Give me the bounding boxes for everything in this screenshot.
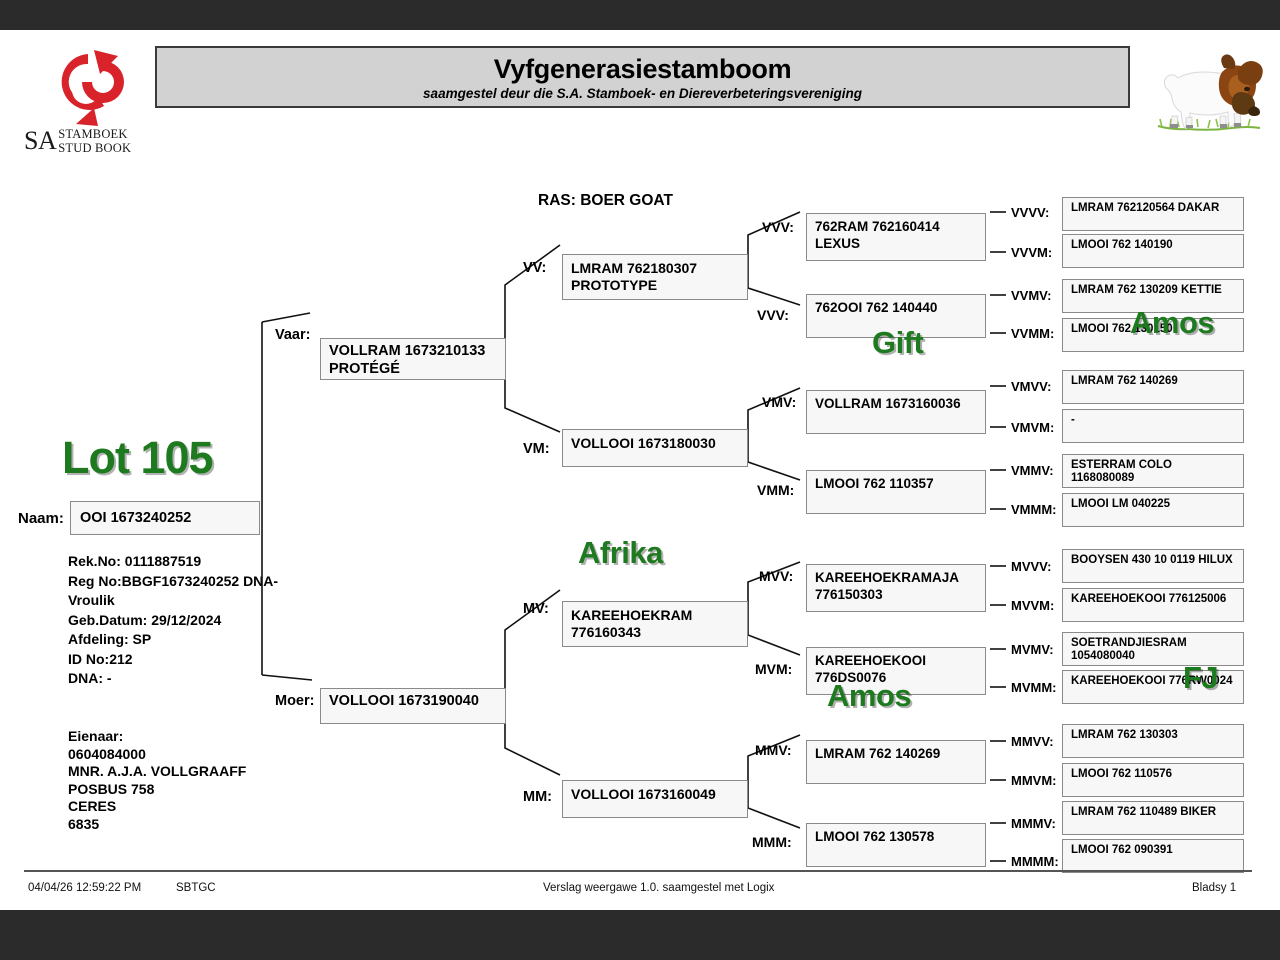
- node-mmvm[interactable]: LMOOI 762 110576: [1062, 763, 1244, 797]
- boer-goat-photo: [1148, 48, 1270, 152]
- node-vv-text: LMRAM 762180307 PROTOTYPE: [563, 255, 747, 294]
- label-mvm: MVM:: [755, 661, 792, 677]
- node-mmmm-text: LMOOI 762 090391: [1063, 840, 1243, 857]
- node-vvm-text: 762OOI 762 140440: [807, 295, 985, 317]
- node-vvvm-text: LMOOI 762 140190: [1063, 235, 1243, 252]
- label-mvv: MVV:: [759, 568, 793, 584]
- page-subtitle: saamgestel deur die S.A. Stamboek- en Di…: [157, 86, 1128, 102]
- node-mvvv-text: BOOYSEN 430 10 0119 HILUX: [1063, 550, 1243, 567]
- node-mvmv-text: SOETRANDJIESRAM 1054080040: [1063, 633, 1243, 663]
- logo-sa-text: SA: [24, 126, 56, 156]
- node-mmvv[interactable]: LMRAM 762 130303: [1062, 724, 1244, 758]
- label-mmmm: MMMM:: [1011, 854, 1059, 869]
- watermark-afrika: Afrika: [578, 535, 663, 571]
- node-vm-text: VOLLOOI 1673180030: [563, 430, 747, 452]
- node-vmvm[interactable]: -: [1062, 409, 1244, 443]
- report-sheet: SASTAMBOEKSTUD BOOK Vyfgenerasiestamboom…: [0, 30, 1280, 910]
- node-mmvv-text: LMRAM 762 130303: [1063, 725, 1243, 742]
- node-mm[interactable]: VOLLOOI 1673160049: [562, 780, 748, 818]
- node-vmv-text: VOLLRAM 1673160036: [807, 391, 985, 413]
- label-mvvm: MVVM:: [1011, 598, 1054, 613]
- naam-label: Naam:: [18, 510, 64, 527]
- label-vmmm: VMMM:: [1011, 502, 1057, 517]
- owner-block: Eienaar: 0604084000 MNR. A.J.A. VOLLGRAA…: [68, 728, 246, 833]
- label-mmvm: MMVM:: [1011, 773, 1057, 788]
- node-vvvv-text: LMRAM 762120564 DAKAR: [1063, 198, 1243, 215]
- label-mvmv: MVMV:: [1011, 642, 1054, 657]
- boer-goat-illustration-icon: [1148, 48, 1270, 152]
- node-vvmv-text: LMRAM 762 130209 KETTIE: [1063, 280, 1243, 297]
- node-mmv[interactable]: LMRAM 762 140269: [806, 740, 986, 784]
- owner-text: Eienaar: 0604084000 MNR. A.J.A. VOLLGRAA…: [68, 728, 246, 832]
- rek-no: Rek.No: 0111887519: [68, 552, 308, 572]
- node-mmvm-text: LMOOI 762 110576: [1063, 764, 1243, 781]
- breed-label: RAS: BOER GOAT: [538, 192, 673, 210]
- afdeling: Afdeling: SP: [68, 630, 308, 650]
- watermark-amos-mid: Amos: [827, 678, 911, 714]
- label-mmm: MMM:: [752, 834, 792, 850]
- node-vmmm-text: LMOOI LM 040225: [1063, 494, 1243, 511]
- sa-stamboek-mark-icon: [42, 48, 134, 126]
- node-vvvm[interactable]: LMOOI 762 140190: [1062, 234, 1244, 268]
- node-mv-text: KAREEHOEKRAM 776160343: [563, 602, 747, 641]
- page-title: Vyfgenerasiestamboom: [157, 48, 1128, 86]
- node-vmvm-text: -: [1063, 410, 1243, 427]
- screenshot-canvas: SASTAMBOEKSTUD BOOK Vyfgenerasiestamboom…: [0, 0, 1280, 960]
- node-sire-text: VOLLRAM 1673210133 PROTÉGÉ: [321, 339, 505, 378]
- label-mmv: MMV:: [755, 742, 792, 758]
- node-mmmv[interactable]: LMRAM 762 110489 BIKER: [1062, 801, 1244, 835]
- node-mvv[interactable]: KAREEHOEKRAMAJA 776150303: [806, 564, 986, 612]
- logo-line2: STUD BOOK: [58, 141, 131, 155]
- geb-datum: Geb.Datum: 29/12/2024: [68, 611, 308, 631]
- node-vmv[interactable]: VOLLRAM 1673160036: [806, 390, 986, 434]
- node-vvv[interactable]: 762RAM 762160414 LEXUS: [806, 213, 986, 261]
- node-vmvv[interactable]: LMRAM 762 140269: [1062, 370, 1244, 404]
- node-mvvm[interactable]: KAREEHOEKOOI 776125006: [1062, 588, 1244, 622]
- label-vvm: VVV:: [757, 307, 789, 323]
- label-vvmm: VVMM:: [1011, 326, 1054, 341]
- node-mvvv[interactable]: BOOYSEN 430 10 0119 HILUX: [1062, 549, 1244, 583]
- node-vmm[interactable]: LMOOI 762 110357: [806, 470, 986, 514]
- dna: DNA: -: [68, 669, 308, 689]
- label-mm: MM:: [523, 789, 552, 805]
- label-vvvm: VVVM:: [1011, 245, 1052, 260]
- label-vvv: VVV:: [762, 219, 794, 235]
- sa-studbook-logo: SASTAMBOEKSTUD BOOK: [22, 48, 152, 163]
- label-vvmv: VVMV:: [1011, 288, 1051, 303]
- id-no: ID No:212: [68, 650, 308, 670]
- label-mvmm: MVMM:: [1011, 680, 1057, 695]
- node-mvvm-text: KAREEHOEKOOI 776125006: [1063, 589, 1243, 606]
- label-mmmv: MMMV:: [1011, 816, 1056, 831]
- node-mmm[interactable]: LMOOI 762 130578: [806, 823, 986, 867]
- label-mmvv: MMVV:: [1011, 734, 1054, 749]
- node-dam[interactable]: VOLLOOI 1673190040: [320, 688, 506, 724]
- node-vmmv[interactable]: ESTERRAM COLO 1168080089: [1062, 454, 1244, 488]
- node-vmmv-text: ESTERRAM COLO 1168080089: [1063, 455, 1243, 485]
- watermark-fj: FJ: [1183, 660, 1218, 696]
- footer-page-number: Bladsy 1: [1192, 882, 1236, 894]
- label-sire: Vaar:: [275, 327, 310, 343]
- animal-name-value: OOI 1673240252: [80, 510, 191, 526]
- animal-name-box: OOI 1673240252: [70, 501, 260, 535]
- node-mmm-text: LMOOI 762 130578: [807, 824, 985, 846]
- report-title-band: Vyfgenerasiestamboom saamgestel deur die…: [155, 46, 1130, 108]
- sa-logo-wordmark: SASTAMBOEKSTUD BOOK: [24, 126, 152, 156]
- node-vmmm[interactable]: LMOOI LM 040225: [1062, 493, 1244, 527]
- node-mv[interactable]: KAREEHOEKRAM 776160343: [562, 601, 748, 647]
- label-mv: MV:: [523, 601, 549, 617]
- node-vv[interactable]: LMRAM 762180307 PROTOTYPE: [562, 254, 748, 300]
- footer-report-version: Verslag weergawe 1.0. saamgestel met Log…: [543, 882, 774, 894]
- node-mm-text: VOLLOOI 1673160049: [563, 781, 747, 803]
- label-vm: VM:: [523, 441, 550, 457]
- node-mvv-text: KAREEHOEKRAMAJA 776150303: [807, 565, 985, 603]
- node-mmv-text: LMRAM 762 140269: [807, 741, 985, 763]
- reg-no: Reg No:BBGF1673240252 DNA-Vroulik: [68, 572, 300, 611]
- label-mvvv: MVVV:: [1011, 559, 1051, 574]
- label-vv: VV:: [523, 260, 546, 276]
- logo-line1: STAMBOEK: [58, 127, 127, 141]
- footer-timestamp: 04/04/26 12:59:22 PM: [28, 882, 141, 894]
- node-dam-text: VOLLOOI 1673190040: [321, 689, 505, 711]
- footer-code: SBTGC: [176, 882, 216, 894]
- label-vmmv: VMMV:: [1011, 463, 1054, 478]
- watermark-amos-top: Amos: [1130, 305, 1214, 341]
- node-mmmm[interactable]: LMOOI 762 090391: [1062, 839, 1244, 873]
- node-vmm-text: LMOOI 762 110357: [807, 471, 985, 493]
- label-vmv: VMV:: [762, 394, 796, 410]
- node-vvv-text: 762RAM 762160414 LEXUS: [807, 214, 985, 252]
- watermark-gift: Gift: [872, 325, 923, 361]
- label-dam: Moer:: [275, 693, 314, 709]
- node-mmmv-text: LMRAM 762 110489 BIKER: [1063, 802, 1243, 819]
- node-vmvv-text: LMRAM 762 140269: [1063, 371, 1243, 388]
- node-sire[interactable]: VOLLRAM 1673210133 PROTÉGÉ: [320, 338, 506, 380]
- label-vmvv: VMVV:: [1011, 379, 1051, 394]
- animal-details: Rek.No: 0111887519 Reg No:BBGF1673240252…: [68, 552, 308, 689]
- label-vmm: VMM:: [757, 482, 794, 498]
- node-vvvv[interactable]: LMRAM 762120564 DAKAR: [1062, 197, 1244, 231]
- label-vmvm: VMVM:: [1011, 420, 1054, 435]
- label-vvvv: VVVV:: [1011, 205, 1049, 220]
- lot-number-heading: Lot 105: [62, 432, 213, 484]
- footer-divider: [24, 870, 1252, 872]
- node-vm[interactable]: VOLLOOI 1673180030: [562, 429, 748, 467]
